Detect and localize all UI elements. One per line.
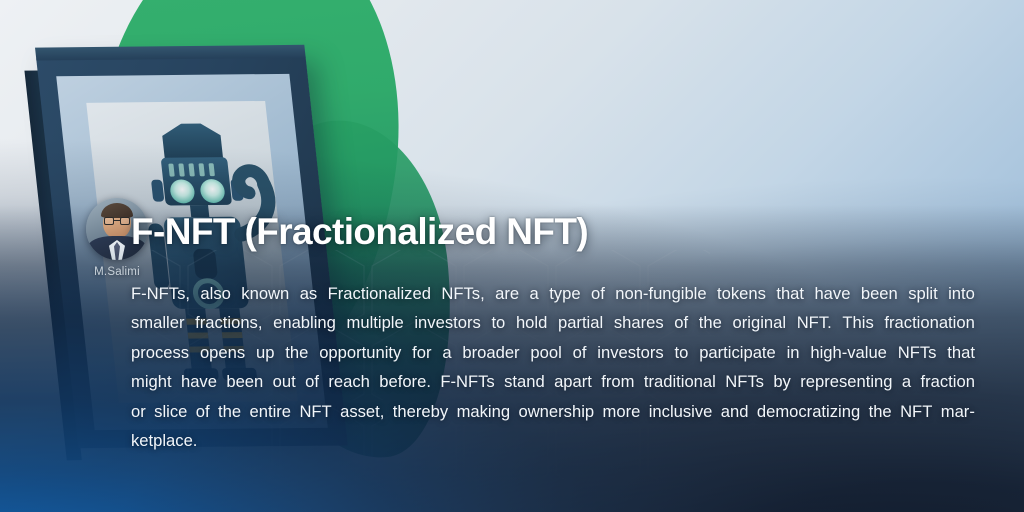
author-name: M.Salimi <box>74 266 160 278</box>
body-line: processopensuptheopportunityforabroaderp… <box>131 338 975 367</box>
body-line: ketplace. <box>131 426 975 455</box>
body-line: mighthavebeenoutofreachbefore.F-NFTsstan… <box>131 367 975 396</box>
avatar-hair <box>101 203 133 218</box>
body-line: orsliceoftheentireNFTasset,therebymaking… <box>131 397 975 426</box>
body-line: smallerfractions,enablingmultipleinvesto… <box>131 308 975 337</box>
infographic-canvas: M.Salimi F-NFT (Fractionalized NFT) F-NF… <box>0 0 1024 512</box>
page-title: F-NFT (Fractionalized NFT) <box>131 211 588 253</box>
body-line: F-NFTs,alsoknownasFractionalizedNFTs,are… <box>131 279 975 308</box>
body-paragraph: F-NFTs,alsoknownasFractionalizedNFTs,are… <box>131 279 975 455</box>
avatar-glasses-icon <box>104 217 130 225</box>
